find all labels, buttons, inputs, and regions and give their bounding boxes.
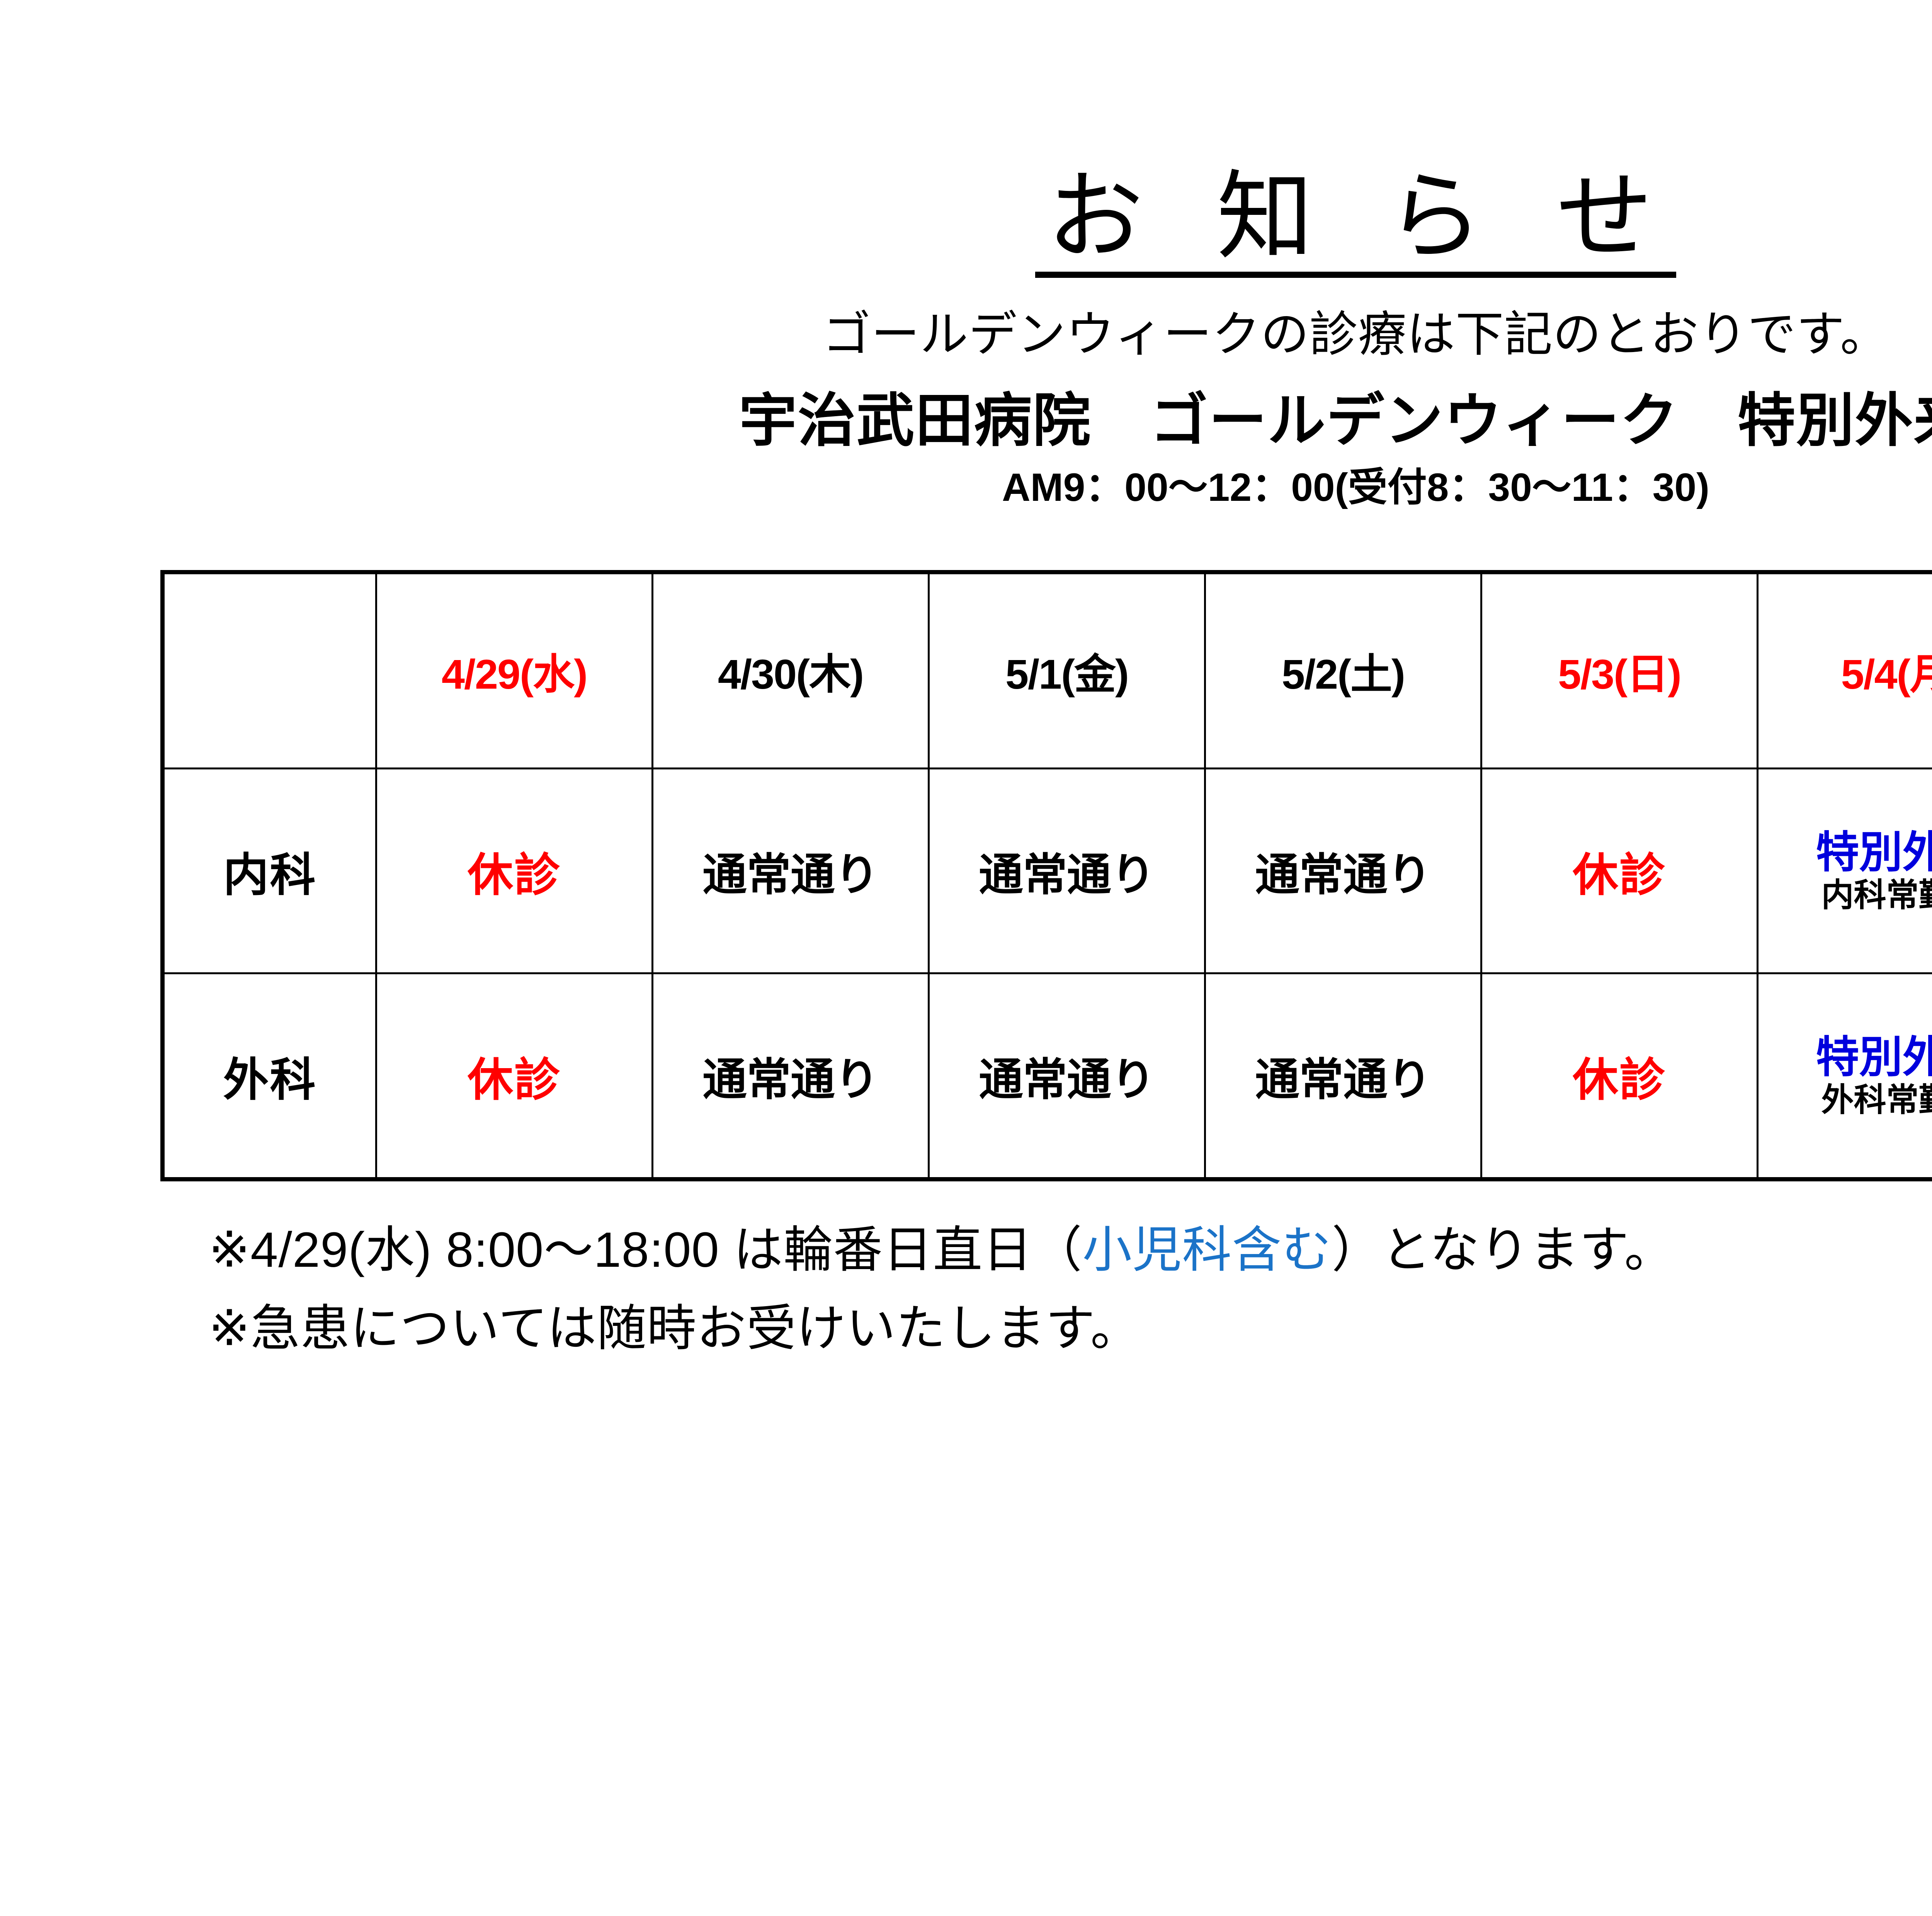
special-clinic-label-surgery: 特別外来	[1759, 1033, 1932, 1081]
note-rotation-duty: ※4/29(水) 8:00～18:00 は輪番日直日（小児科含む）となります。	[209, 1223, 1932, 1278]
header-cell-0429: 4/29(水)	[376, 572, 653, 769]
row-label-internal-medicine: 内科	[163, 769, 376, 973]
notice-subtitle: ゴールデンウィークの診療は下記のとおりです。	[0, 308, 1932, 361]
note-rotation-duty-pediatrics: 小児科含む	[1082, 1222, 1332, 1278]
note-rotation-duty-text-2: ）となります。	[1332, 1222, 1674, 1278]
note-emergency: ※急患については随時お受けいたします。	[209, 1302, 1932, 1356]
table-row: 内科 休診 通常通り 通常通り 通常通り 休診 特別外来 内科常勤医 休診 休診	[163, 769, 1932, 973]
cell-surgery-0503: 休診	[1481, 973, 1758, 1179]
table-header-row: 4/29(水) 4/30(木) 5/1(金) 5/2(土) 5/3(日) 5/4…	[163, 572, 1932, 769]
notes-container: ※4/29(水) 8:00～18:00 は輪番日直日（小児科含む）となります。 …	[0, 1223, 1932, 1356]
notice-page: お 知 ら せ ゴールデンウィークの診療は下記のとおりです。 宇治武田病院 ゴー…	[0, 0, 1932, 1916]
note-rotation-duty-text-1: ※4/29(水) 8:00～18:00 は輪番日直日（	[209, 1222, 1082, 1278]
hospital-heading: 宇治武田病院 ゴールデンウィーク 特別外来	[0, 389, 1932, 453]
special-clinic-doctor-internal: 内科常勤医	[1759, 876, 1932, 914]
clinic-hours: AM9：00～12：00(受付8：30～11：30)	[0, 466, 1932, 509]
header-cell-0504: 5/4(月)	[1758, 572, 1932, 769]
cell-internal-0430: 通常通り	[653, 769, 929, 973]
cell-internal-0503: 休診	[1481, 769, 1758, 973]
schedule-table-container: 4/29(水) 4/30(木) 5/1(金) 5/2(土) 5/3(日) 5/4…	[0, 570, 1932, 1181]
special-clinic-label-internal: 特別外来	[1759, 828, 1932, 876]
cell-internal-0501: 通常通り	[929, 769, 1205, 973]
cell-surgery-0430: 通常通り	[653, 973, 929, 1179]
cell-internal-0429: 休診	[376, 769, 653, 973]
header-cell-0430: 4/30(木)	[653, 572, 929, 769]
cell-internal-0504: 特別外来 内科常勤医	[1758, 769, 1932, 973]
header-cell-0503: 5/3(日)	[1481, 572, 1758, 769]
special-clinic-doctor-surgery: 外科常勤医	[1759, 1081, 1932, 1119]
header-cell-0501: 5/1(金)	[929, 572, 1205, 769]
header-cell-0502: 5/2(土)	[1205, 572, 1481, 769]
cell-surgery-0502: 通常通り	[1205, 973, 1481, 1179]
cell-surgery-0504: 特別外来 外科常勤医	[1758, 973, 1932, 1179]
title-container: お 知 ら せ	[0, 0, 1932, 278]
cell-internal-0502: 通常通り	[1205, 769, 1481, 973]
table-row: 外科 休診 通常通り 通常通り 通常通り 休診 特別外来 外科常勤医 休診 休診	[163, 973, 1932, 1179]
schedule-table-body: 4/29(水) 4/30(木) 5/1(金) 5/2(土) 5/3(日) 5/4…	[163, 572, 1932, 1179]
cell-surgery-0429: 休診	[376, 973, 653, 1179]
cell-surgery-0501: 通常通り	[929, 973, 1205, 1179]
schedule-table: 4/29(水) 4/30(木) 5/1(金) 5/2(土) 5/3(日) 5/4…	[160, 570, 1932, 1181]
page-title: お 知 ら せ	[1035, 166, 1676, 278]
row-label-surgery: 外科	[163, 973, 376, 1179]
signature-director: 院 長	[0, 1406, 1932, 1467]
table-corner-cell	[163, 572, 376, 769]
